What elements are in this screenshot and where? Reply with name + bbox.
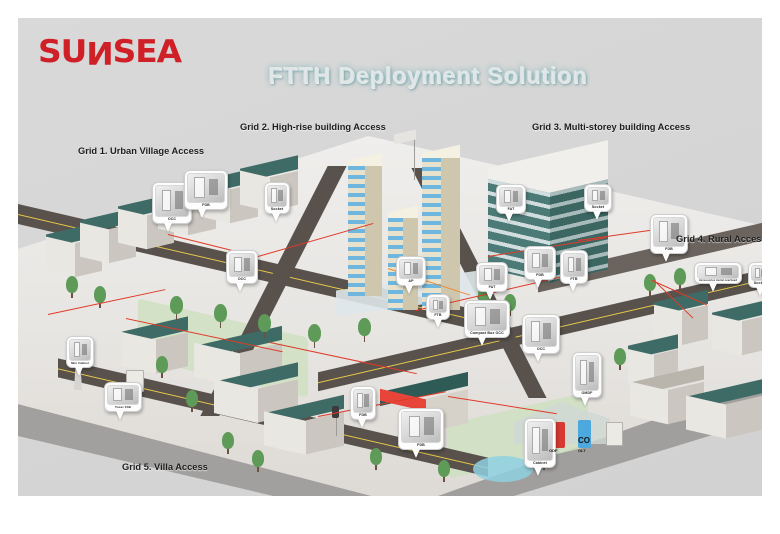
tree [674,268,686,290]
callout-socket-rural[interactable]: Socket [748,262,762,288]
callout-label: FAT [478,266,485,271]
callout-tail-icon [164,223,172,232]
callout-occ-street[interactable]: OCC [226,250,258,284]
callout-tail-icon [272,213,280,222]
socket-photo-icon [751,265,762,281]
callout-tail-icon [236,283,244,292]
ap-device-photo-icon [399,259,423,279]
mini-cabinet-photo-icon [69,339,91,361]
tree [258,314,271,338]
ftb-terminal-photo-icon [563,253,585,277]
logo-stylized-n: N [86,34,112,70]
tree [438,460,450,482]
callout-label: FAT [489,285,496,290]
socket-photo-icon [267,185,287,207]
callout-tail-icon [756,287,762,296]
accessories-photo-icon [697,265,739,279]
callout-tail-icon [116,411,124,420]
callout-accessories-rural[interactable]: Accessories Aerial overhead [694,262,742,284]
label-co: CO [578,436,590,445]
callout-tail-icon [412,449,420,458]
ftb-terminal-photo-icon [429,297,447,313]
tree [186,390,198,412]
logo-text-part2: SEA [113,34,181,70]
callout-label: Tower FDB [115,405,131,410]
callout-label: FDB [417,443,425,448]
tree [370,448,382,470]
street-sign [394,129,416,144]
tree [170,296,183,320]
fdb-box-photo-icon [353,389,373,413]
callout-label: FDB [359,413,367,418]
logo-text-part1: SU [38,34,86,70]
occ-cabinet-photo-icon [525,317,557,347]
callout-tail-icon [198,209,206,218]
callout-ftb-multistorey[interactable]: FTB [560,250,588,284]
grid-label-4: Grid 4. Rural Access [676,234,762,244]
callout-label: Socket [271,207,283,212]
label-olt: OLT [578,448,586,453]
callout-label: FDB [665,247,673,252]
sunsea-logo: SUNSEA [38,34,181,70]
callout-tail-icon [478,337,486,346]
grid-label-2: Grid 2. High-rise building Access [240,122,386,132]
tree [358,318,371,342]
callout-label: Accessories Aerial overhead [699,279,737,282]
callout-socket-multistorey[interactable]: Socket [584,184,612,212]
callout-tail-icon [505,213,513,222]
tree [66,276,78,298]
tree [214,304,227,328]
callout-label: Socket [754,281,762,286]
label-odf: ODF [549,448,557,453]
rural-house-2 [712,306,762,350]
callout-occ-midright[interactable]: OCC [522,314,560,354]
callout-label: OMDF [582,391,593,396]
callout-label: OCC [238,277,246,282]
fdb-box-photo-icon [401,411,441,443]
callout-label: FTB [570,277,577,282]
callout-label: Compact Box OCC [470,331,504,336]
grid-label-3: Grid 3. Multi-storey building Access [532,122,690,132]
compact-box-photo-icon [467,303,507,331]
callout-tail-icon [534,279,542,288]
callout-label: Socket [592,205,604,210]
callout-label: OCC [537,347,545,352]
callout-tower-fdb[interactable]: Tower FDB [104,382,142,412]
callout-label: OCC [168,217,176,222]
callout-omdf[interactable]: OMDF [572,352,602,398]
callout-ftb-highrise[interactable]: FTB [426,294,450,320]
omdf-frame-photo-icon [575,355,599,391]
callout-mini-cabinet[interactable]: Mini Cabinet [66,336,94,368]
callout-label: FDB [536,273,544,278]
callout-label: AP [408,279,413,284]
callout-fdb-crosswalk[interactable]: FDB [398,408,444,450]
tree [644,274,656,296]
street-pole [414,134,415,180]
callout-tail-icon [569,283,577,292]
callout-tail-icon [405,285,413,294]
callout-label: Cabinet [533,461,547,466]
callout-tail-icon [534,353,542,362]
callout-label: Mini Cabinet [71,361,89,366]
callout-tail-icon [486,291,494,300]
commercial-2 [686,388,762,428]
callout-ap-highrise[interactable]: AP [396,256,426,286]
fdb-box-photo-icon [527,249,553,273]
callout-fdb-multistorey[interactable]: FDB [524,246,556,280]
tree [222,432,234,454]
tree [308,324,321,348]
callout-fat-multistorey[interactable]: FAT [496,184,526,214]
diagram-canvas: OCC FDB Socket OCC AP FAT FTB Compact Bo… [18,18,762,496]
tree [614,348,626,370]
page-title: FTTH Deployment Solution [268,62,587,89]
fat-closure-photo-icon [499,187,523,207]
tower-fdb-photo-icon [107,385,139,405]
callout-fdb-villa[interactable]: FDB [350,386,376,420]
callout-tail-icon [434,319,442,328]
socket-photo-icon [587,187,609,205]
callout-tail-icon [593,211,601,220]
callout-fdb-village[interactable]: FDB [184,170,228,210]
cabinet-photo-icon [527,421,553,461]
callout-tail-icon [358,419,366,428]
callout-tail-icon [662,253,670,262]
callout-label: FAT [508,207,515,212]
callout-tail-icon [534,467,542,476]
grid-label-1: Grid 1. Urban Village Access [78,146,204,156]
callout-label: FDB [202,203,210,208]
callout-tail-icon [709,283,717,292]
tree [252,450,264,472]
fdb-box-photo-icon [187,173,225,203]
callout-socket-village[interactable]: Socket [264,182,290,214]
callout-cabinet-co[interactable]: Cabinet [524,418,556,468]
co-cabinet-unit [606,422,623,446]
occ-cabinet-photo-icon [229,253,255,277]
callout-tail-icon [581,397,589,406]
callout-label: FTB [434,313,441,318]
callout-tail-icon [75,367,83,376]
tree [156,356,168,378]
callout-compact-box-occ[interactable]: Compact Box OCC [464,300,510,338]
high-rise-tower-right [422,158,460,310]
grid-label-5: Grid 5. Villa Access [122,462,208,472]
high-rise-tower-left [348,166,382,296]
